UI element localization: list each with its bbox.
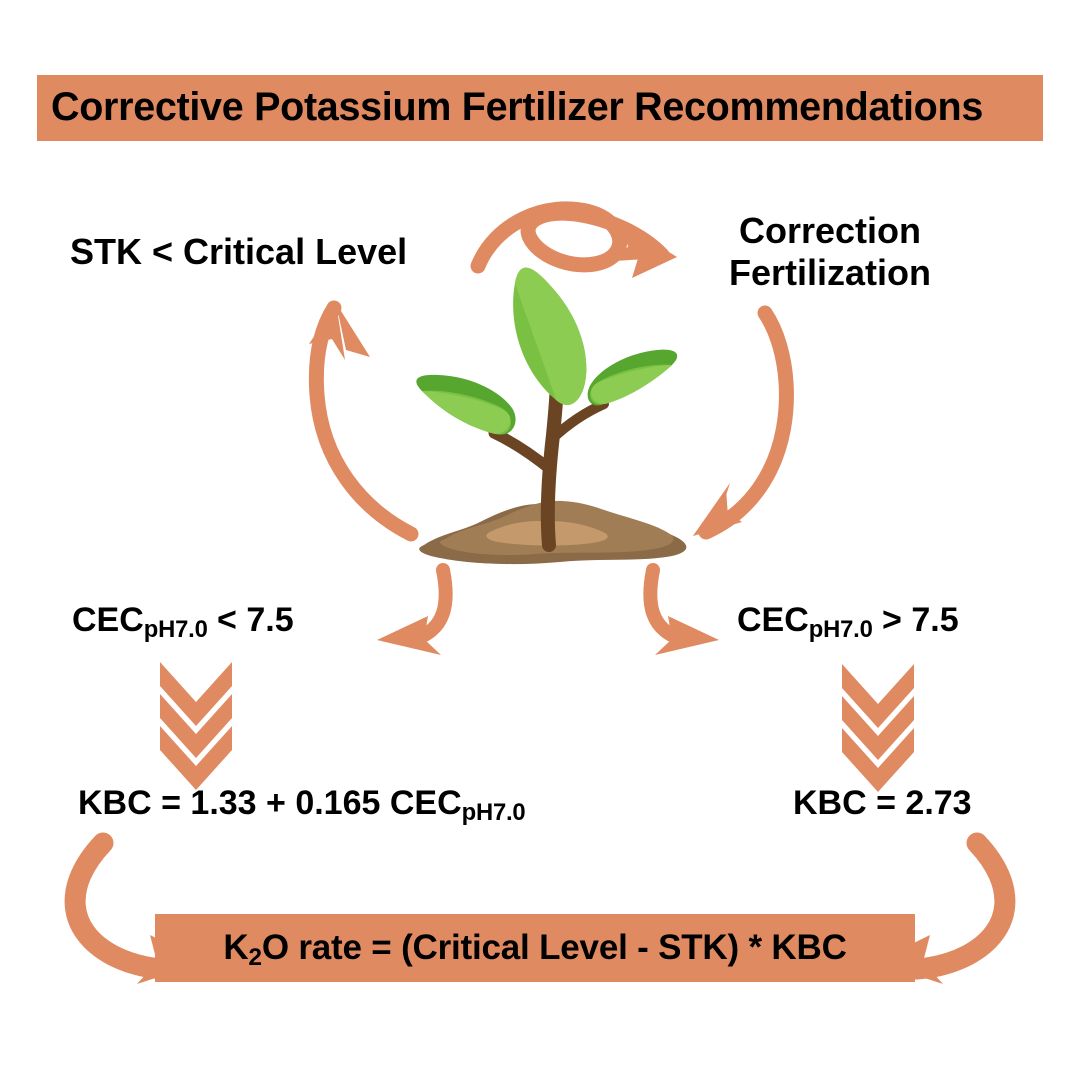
result-subscript: 2 — [248, 944, 261, 971]
label-kbc-right-formula: KBC = 2.73 — [793, 783, 972, 823]
page-title: Corrective Potassium Fertilizer Recommen… — [51, 88, 983, 128]
correction-line-1: Correction — [700, 210, 960, 252]
label-cec-left-condition: CECpH7.0 < 7.5 — [72, 600, 294, 640]
label-stk-condition: STK < Critical Level — [70, 231, 407, 273]
result-banner: K2O rate = (Critical Level - STK) * KBC — [155, 914, 915, 982]
seedling-icon — [416, 268, 686, 564]
correction-line-2: Fertilization — [700, 252, 960, 294]
branch-arrow-right-icon — [650, 570, 719, 655]
kbc-right-prefix: KBC = 2.73 — [793, 784, 972, 822]
cec-right-suffix: > 7.5 — [873, 601, 959, 639]
plant-leaf-left — [416, 375, 515, 435]
title-banner: Corrective Potassium Fertilizer Recommen… — [37, 75, 1043, 141]
cec-right-subscript: pH7.0 — [809, 616, 873, 643]
label-cec-right-condition: CECpH7.0 > 7.5 — [737, 600, 959, 640]
loop-arrow-icon — [478, 209, 677, 278]
plant-leaf-center — [513, 268, 586, 405]
plant-stem — [494, 355, 604, 545]
result-suffix: O rate = (Critical Level - STK) * KBC — [262, 928, 847, 967]
plant-leaf-right — [588, 350, 678, 406]
branch-arrow-left-icon — [377, 570, 446, 655]
diagram-canvas: Corrective Potassium Fertilizer Recommen… — [0, 0, 1080, 1080]
result-formula: K2O rate = (Critical Level - STK) * KBC — [223, 928, 846, 968]
left-cycle-arrow-icon — [309, 303, 411, 534]
right-cycle-arrow-icon — [693, 313, 786, 536]
chevron-stack-left-icon — [160, 662, 232, 790]
cec-left-suffix: < 7.5 — [208, 601, 294, 639]
chevron-stack-right-icon — [842, 664, 914, 792]
soil-mound — [419, 501, 686, 564]
result-prefix: K — [223, 928, 248, 967]
kbc-left-subscript: pH7.0 — [462, 799, 526, 826]
cec-right-prefix: CEC — [737, 601, 809, 639]
cec-left-prefix: CEC — [72, 601, 144, 639]
kbc-left-prefix: KBC = 1.33 + 0.165 CEC — [78, 784, 462, 822]
label-kbc-left-formula: KBC = 1.33 + 0.165 CECpH7.0 — [78, 783, 525, 823]
cec-left-subscript: pH7.0 — [144, 616, 208, 643]
label-correction-fertilization: Correction Fertilization — [700, 210, 960, 295]
